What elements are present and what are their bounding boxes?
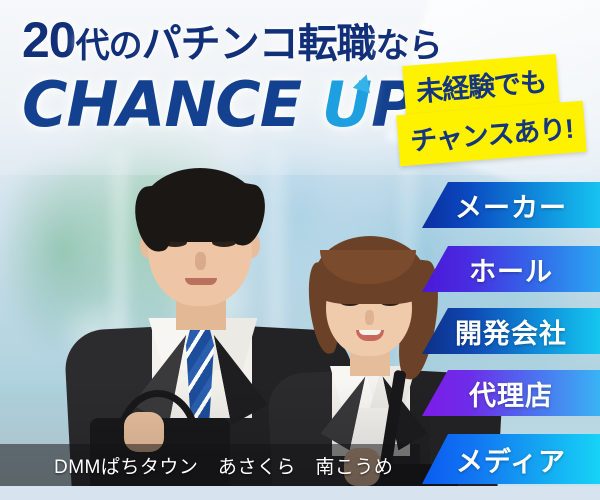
category-button-agency[interactable]: 代理店 bbox=[422, 370, 600, 416]
woman-nose bbox=[365, 310, 374, 325]
headline-number: 20 bbox=[22, 12, 76, 68]
category-button-hall[interactable]: ホール bbox=[422, 246, 600, 292]
woman-teeth bbox=[359, 330, 381, 335]
bottom-strip bbox=[0, 486, 600, 500]
man-nose bbox=[195, 252, 206, 270]
credit-bar: DMMぱちタウン あさくら 南こうめ bbox=[0, 444, 420, 486]
headline-japanese: 20代のパチンコ転職なら bbox=[22, 16, 442, 70]
badge-no-experience-label: 未経験でも bbox=[415, 67, 547, 107]
logo-chance-text: CHANCE bbox=[22, 68, 301, 141]
credit-text: DMMぱちタウン あさくら 南こうめ bbox=[54, 452, 393, 479]
headline-main: パチンコ転職 bbox=[142, 22, 376, 66]
banner-ad[interactable]: 20代のパチンコ転職なら CHANCE UP 未経験でも チャンスあり! メーカ… bbox=[0, 0, 600, 500]
category-label-hall: ホール bbox=[469, 250, 553, 289]
badge-chance-available-label: チャンスあり! bbox=[409, 114, 574, 157]
category-label-development-company: 開発会社 bbox=[455, 312, 567, 351]
category-button-development-company[interactable]: 開発会社 bbox=[422, 308, 600, 354]
category-label-maker: メーカー bbox=[455, 186, 567, 225]
headline-tail: なら bbox=[376, 27, 442, 65]
category-label-media: メディア bbox=[456, 440, 566, 479]
logo-chance-up: CHANCE UP bbox=[22, 72, 416, 138]
man-mouth bbox=[185, 278, 217, 285]
category-button-maker[interactable]: メーカー bbox=[422, 182, 600, 228]
category-label-agency: 代理店 bbox=[469, 374, 553, 413]
category-button-media[interactable]: メディア bbox=[422, 434, 600, 484]
headline-mid: 代の bbox=[76, 27, 142, 65]
logo-u-letter: U bbox=[322, 72, 371, 138]
